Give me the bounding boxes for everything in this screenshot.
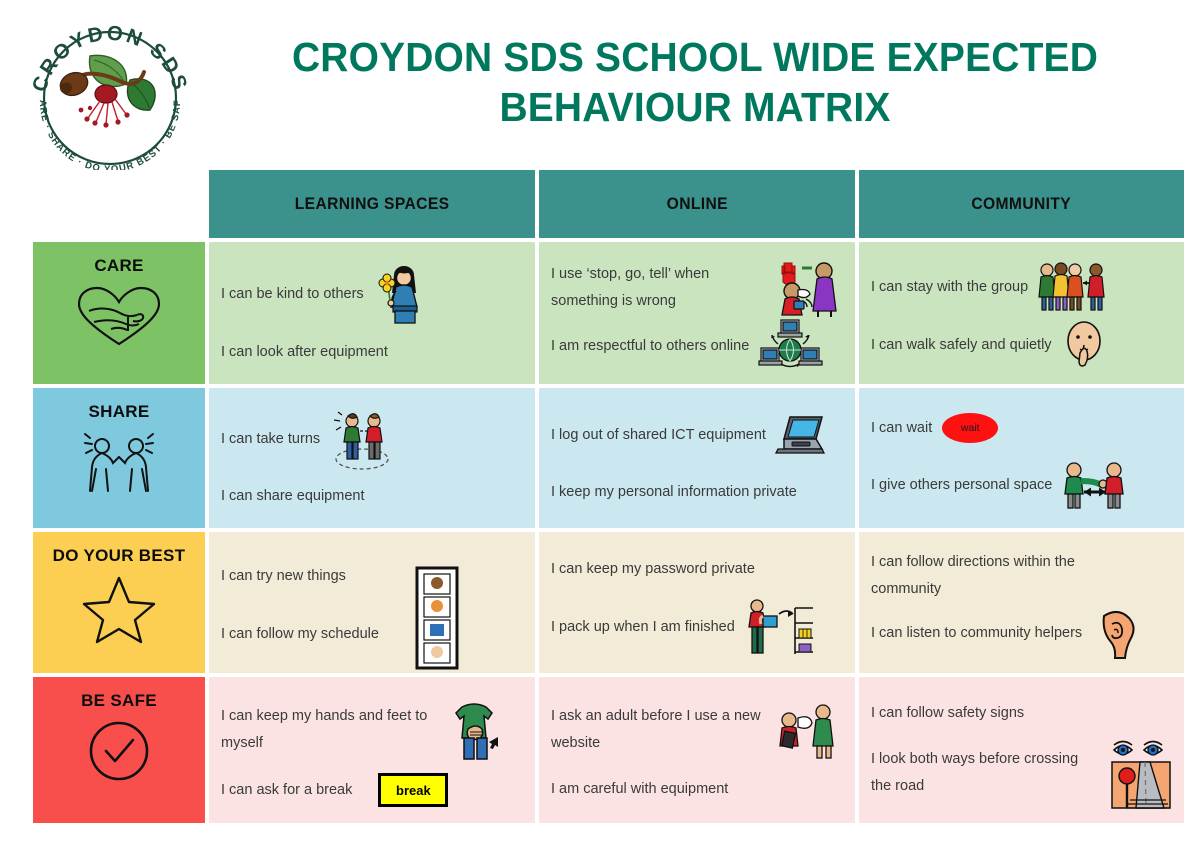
statement: I can keep my password private bbox=[551, 553, 843, 587]
cell-care-learning-spaces: I can be kind to others bbox=[209, 242, 535, 384]
statement: I look both ways before crossing the roa… bbox=[871, 736, 1172, 810]
statement-text: I can follow safety signs bbox=[871, 700, 1024, 727]
taking-turns-two-people-icon bbox=[330, 409, 394, 471]
statement: I can wait wait bbox=[871, 411, 1172, 445]
column-header-learning-spaces: LEARNING SPACES bbox=[209, 170, 535, 238]
statement-text: I can stay with the group bbox=[871, 274, 1028, 301]
statement-text: I use ‘stop, go, tell’ when something is… bbox=[551, 261, 766, 315]
cell-care-community: I can stay with the group bbox=[859, 242, 1184, 384]
matrix-corner-cell bbox=[33, 170, 205, 238]
statement-text: I am respectful to others online bbox=[551, 333, 749, 360]
statement: I can follow my schedule bbox=[221, 617, 523, 651]
listening-ear-icon bbox=[1092, 606, 1138, 662]
column-header-label: COMMUNITY bbox=[972, 194, 1072, 214]
cell-be-safe-learning-spaces: I can keep my hands and feet to myself bbox=[209, 677, 535, 823]
wait-red-oval-icon: wait bbox=[942, 413, 998, 443]
column-header-community: COMMUNITY bbox=[859, 170, 1184, 238]
behaviour-matrix: LEARNING SPACES ONLINE COMMUNITY CARE I … bbox=[33, 170, 1172, 813]
statement-text: I am careful with equipment bbox=[551, 776, 728, 803]
statement-text: I can walk safely and quietly bbox=[871, 332, 1052, 359]
two-people-high-five-icon bbox=[76, 430, 162, 499]
laptop-icon bbox=[776, 413, 830, 457]
statement-text: I can follow my schedule bbox=[221, 621, 379, 648]
row-header-care: CARE bbox=[33, 242, 205, 384]
statement: I can walk safely and quietly bbox=[871, 319, 1172, 371]
statement: I can try new things bbox=[221, 560, 523, 594]
statement-text: I ask an adult before I use a new websit… bbox=[551, 703, 766, 757]
statement: I am respectful to others online bbox=[551, 319, 843, 374]
statement: I can follow directions within the commu… bbox=[871, 549, 1172, 603]
statement-text: I give others personal space bbox=[871, 472, 1052, 499]
statement: I use ‘stop, go, tell’ when something is… bbox=[551, 258, 843, 319]
statement: I keep my personal information private bbox=[551, 475, 843, 509]
row-header-label: SHARE bbox=[88, 402, 149, 422]
statement-text: I look both ways before crossing the roa… bbox=[871, 746, 1100, 800]
woman-with-flower-icon bbox=[374, 263, 426, 325]
statement-text: I keep my personal information private bbox=[551, 479, 797, 506]
statement: I am careful with equipment bbox=[551, 773, 843, 807]
column-header-label: ONLINE bbox=[666, 194, 727, 214]
statement: I can be kind to others bbox=[221, 263, 523, 325]
quiet-shh-face-icon bbox=[1062, 319, 1106, 371]
statement: I ask an adult before I use a new websit… bbox=[551, 700, 843, 760]
statement-text: I can ask for a break bbox=[221, 777, 352, 804]
check-circle-icon bbox=[87, 719, 151, 788]
cell-do-your-best-learning-spaces: I can try new things bbox=[209, 532, 535, 673]
personal-space-arrow-icon bbox=[1062, 459, 1124, 511]
row-header-label: BE SAFE bbox=[81, 691, 157, 711]
statement-text: I can be kind to others bbox=[221, 281, 364, 308]
ask-an-adult-icon bbox=[776, 700, 838, 760]
cell-be-safe-community: I can follow safety signs I look both wa… bbox=[859, 677, 1184, 823]
row-header-be-safe: BE SAFE bbox=[33, 677, 205, 823]
look-both-ways-road-icon bbox=[1110, 736, 1172, 810]
cell-be-safe-online: I ask an adult before I use a new websit… bbox=[539, 677, 855, 823]
star-outline-icon bbox=[81, 574, 157, 649]
cell-share-online: I log out of shared ICT equipment I keep… bbox=[539, 388, 855, 528]
wait-badge: wait bbox=[942, 413, 998, 443]
statement-text: I can keep my password private bbox=[551, 556, 755, 583]
statement: I can keep my hands and feet to myself bbox=[221, 699, 523, 761]
statement: I can take turns bbox=[221, 409, 523, 471]
statement: I give others personal space bbox=[871, 459, 1172, 511]
statement-text: I can follow directions within the commu… bbox=[871, 549, 1121, 603]
computers-network-globe-icon bbox=[759, 318, 821, 374]
hands-to-self-icon bbox=[446, 699, 506, 761]
pack-up-shelf-icon bbox=[745, 596, 815, 658]
statement-text: I can take turns bbox=[221, 426, 320, 453]
statement-text: I log out of shared ICT equipment bbox=[551, 422, 766, 449]
page-header: CROYDON SDS CARE · SHARE · DO YOUR BEST … bbox=[0, 0, 1200, 160]
statement: I can share equipment bbox=[221, 480, 523, 514]
statement-text: I pack up when I am finished bbox=[551, 614, 735, 641]
statement: I can stay with the group bbox=[871, 261, 1172, 313]
column-header-label: LEARNING SPACES bbox=[295, 194, 450, 214]
statement-text: I can keep my hands and feet to myself bbox=[221, 703, 436, 757]
break-badge: break bbox=[378, 773, 448, 807]
column-header-online: ONLINE bbox=[539, 170, 855, 238]
statement: I can ask for a break break bbox=[221, 773, 523, 807]
break-card-icon: break bbox=[378, 773, 448, 807]
statement: I log out of shared ICT equipment bbox=[551, 413, 843, 457]
statement: I can look after equipment bbox=[221, 335, 523, 369]
statement-text: I can share equipment bbox=[221, 483, 364, 510]
statement: I pack up when I am finished bbox=[551, 596, 843, 658]
page-title: CROYDON SDS SCHOOL WIDE EXPECTED BEHAVIO… bbox=[249, 32, 1142, 132]
row-header-label: DO YOUR BEST bbox=[53, 546, 186, 566]
cell-do-your-best-online: I can keep my password private I pack up… bbox=[539, 532, 855, 673]
statement: I can follow safety signs bbox=[871, 696, 1172, 730]
cell-do-your-best-community: I can follow directions within the commu… bbox=[859, 532, 1184, 673]
statement-text: I can wait bbox=[871, 415, 932, 442]
cell-care-online: I use ‘stop, go, tell’ when something is… bbox=[539, 242, 855, 384]
croydon-sds-logo: CROYDON SDS CARE · SHARE · DO YOUR BEST … bbox=[26, 22, 194, 172]
statement-text: I can listen to community helpers bbox=[871, 620, 1082, 647]
statement: I can listen to community helpers bbox=[871, 606, 1172, 662]
stop-go-tell-icon bbox=[776, 257, 842, 319]
statement-text: I can look after equipment bbox=[221, 339, 388, 366]
heart-hug-icon bbox=[73, 284, 165, 353]
row-header-label: CARE bbox=[94, 256, 143, 276]
cell-share-learning-spaces: I can take turns bbox=[209, 388, 535, 528]
group-of-people-icon bbox=[1038, 261, 1104, 313]
row-header-do-your-best: DO YOUR BEST bbox=[33, 532, 205, 673]
statement-text: I can try new things bbox=[221, 563, 346, 590]
cell-share-community: I can wait wait I give others personal s… bbox=[859, 388, 1184, 528]
row-header-share: SHARE bbox=[33, 388, 205, 528]
